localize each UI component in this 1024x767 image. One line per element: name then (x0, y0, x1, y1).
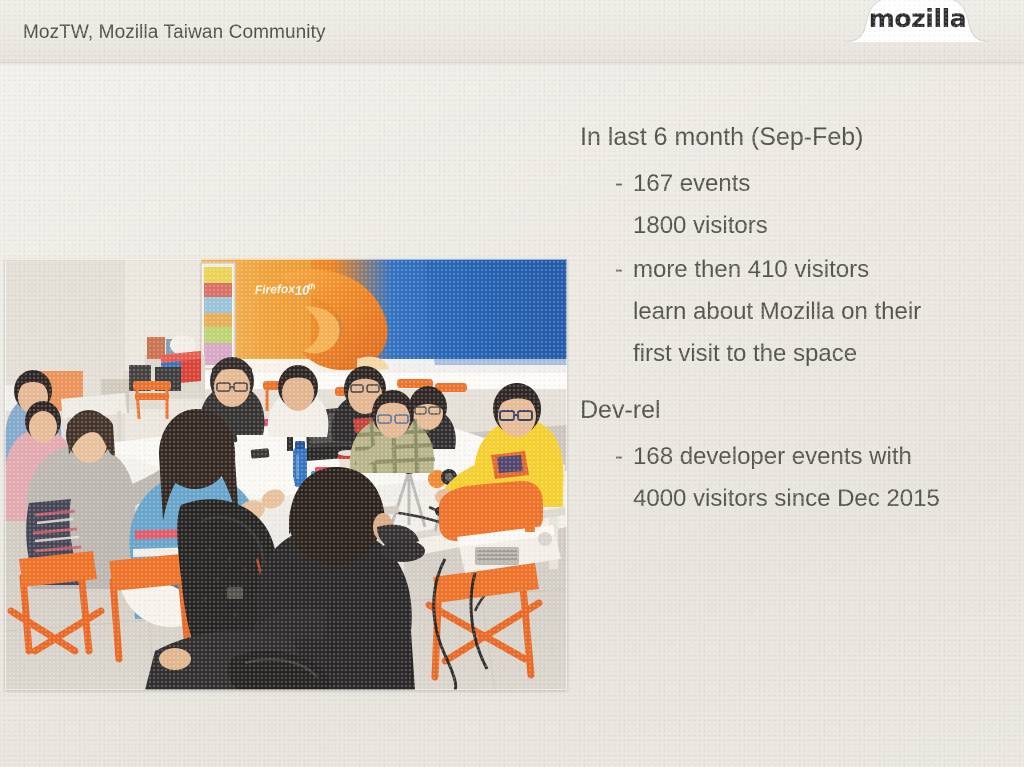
list-item-line: 167 events (633, 163, 1010, 205)
bullet-dash: - (615, 163, 623, 205)
list-item-line: 1800 visitors (633, 205, 1010, 247)
bullet-group-devrel: - 168 developer events with 4000 visitor… (580, 436, 1010, 520)
list-item: - 167 events 1800 visitors (615, 163, 1010, 247)
list-item-lines: more then 410 visitors learn about Mozil… (615, 249, 1010, 375)
list-item: - 168 developer events with 4000 visitor… (615, 436, 1010, 520)
list-item-line: more then 410 visitors (633, 249, 1010, 291)
list-item-lines: 167 events 1800 visitors (615, 163, 1010, 247)
bullet-dash: - (615, 436, 623, 478)
meetup-photo: Firefox 10 th (5, 259, 567, 690)
mozilla-logo-badge: mozilla (845, 0, 990, 42)
list-item-line: first visit to the space (633, 333, 1010, 375)
heading-dev-rel: Dev-rel (580, 395, 1010, 426)
list-item-line: 4000 visitors since Dec 2015 (633, 478, 1010, 520)
heading-in-last-6-month: In last 6 month (Sep-Feb) (580, 122, 1010, 153)
list-item-line: learn about Mozilla on their (633, 291, 1010, 333)
bullet-dash: - (615, 249, 623, 291)
page-title: MozTW, Mozilla Taiwan Community (23, 22, 326, 44)
slide-content: In last 6 month (Sep-Feb) - 167 events 1… (580, 122, 1010, 522)
slide-root: MozTW, Mozilla Taiwan Community mozilla (0, 0, 1024, 767)
list-item-lines: 168 developer events with 4000 visitors … (615, 436, 1010, 520)
bullet-group-stats: - 167 events 1800 visitors - more then 4… (580, 163, 1010, 375)
list-item-line: 168 developer events with (633, 436, 1010, 478)
mozilla-wordmark: mozilla (845, 4, 990, 33)
meetup-photo-illustration: Firefox 10 th (5, 259, 567, 690)
list-item: - more then 410 visitors learn about Moz… (615, 249, 1010, 375)
